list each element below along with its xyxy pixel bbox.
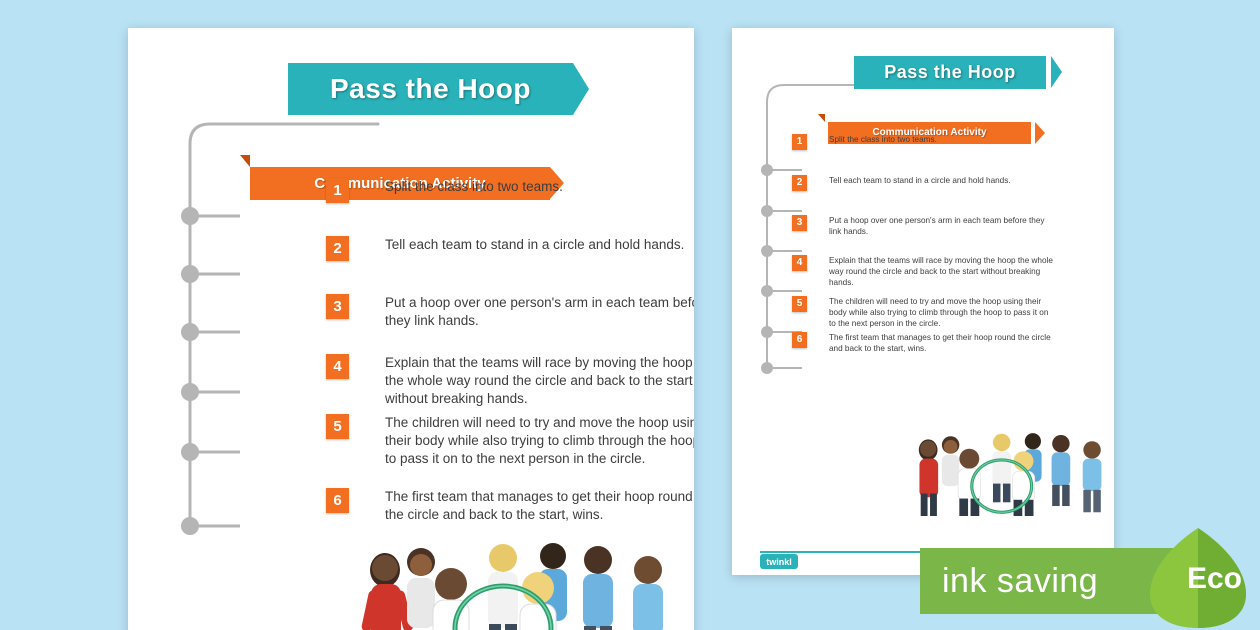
eco-badge: ink saving Eco [920, 526, 1260, 630]
step-text: Put a hoop over one person's arm in each… [385, 294, 694, 330]
step-text: The children will need to try and move t… [385, 414, 694, 468]
step-item: 6 The first team that manages to get the… [326, 488, 694, 524]
step-number: 5 [792, 296, 807, 312]
step-item: 3 Put a hoop over one person's arm in ea… [792, 215, 1057, 237]
step-number: 4 [792, 255, 807, 271]
step-item: 2 Tell each team to stand in a circle an… [792, 175, 1057, 191]
step-item: 4 Explain that the teams will race by mo… [326, 354, 694, 408]
step-number: 5 [326, 414, 349, 439]
eco-label: ink saving [942, 562, 1098, 601]
step-item: 1 Split the class into two teams. [792, 134, 1057, 150]
step-number: 3 [792, 215, 807, 231]
step-item: 2 Tell each team to stand in a circle an… [326, 236, 694, 261]
step-number: 6 [326, 488, 349, 513]
step-item: 3 Put a hoop over one person's arm in ea… [326, 294, 694, 330]
header-banner-group-large: Pass the Hoop Communication Activity [288, 63, 608, 148]
worksheet-page-large[interactable]: Pass the Hoop Communication Activity 1 S… [128, 28, 694, 630]
document-title: Pass the Hoop [288, 63, 573, 115]
step-text: Tell each team to stand in a circle and … [385, 236, 694, 254]
step-number: 2 [792, 175, 807, 191]
step-text: Split the class into two teams. [829, 134, 1057, 145]
step-number: 4 [326, 354, 349, 379]
step-number: 1 [326, 178, 349, 203]
children-passing-hoop-illustration [343, 536, 688, 630]
step-text: Explain that the teams will race by movi… [829, 255, 1057, 288]
step-text: Put a hoop over one person's arm in each… [829, 215, 1057, 237]
step-number: 2 [326, 236, 349, 261]
step-item: 4 Explain that the teams will race by mo… [792, 255, 1057, 288]
document-title: Pass the Hoop [854, 56, 1046, 89]
step-text: The children will need to try and move t… [829, 296, 1057, 329]
worksheet-page-small[interactable]: Pass the Hoop Communication Activity 1 S… [732, 28, 1114, 575]
step-item: 5 The children will need to try and move… [792, 296, 1057, 329]
header-banner-group-small: Pass the Hoop Communication Activity [854, 56, 1069, 111]
step-item: 6 The first team that manages to get the… [792, 332, 1057, 354]
step-number: 3 [326, 294, 349, 319]
step-item: 1 Split the class into two teams. [326, 178, 694, 203]
step-text: Split the class into two teams. [385, 178, 694, 196]
step-number: 6 [792, 332, 807, 348]
step-text: The first team that manages to get their… [829, 332, 1057, 354]
step-text: Explain that the teams will race by movi… [385, 354, 694, 408]
children-passing-hoop-illustration [902, 386, 1114, 516]
twinkl-logo: twinkl [760, 554, 798, 569]
step-number: 1 [792, 134, 807, 150]
eco-word: Eco [1187, 562, 1242, 596]
step-text: The first team that manages to get their… [385, 488, 694, 524]
screenshot-canvas: Pass the Hoop Communication Activity 1 S… [0, 0, 1260, 630]
step-text: Tell each team to stand in a circle and … [829, 175, 1057, 186]
step-item: 5 The children will need to try and move… [326, 414, 694, 468]
